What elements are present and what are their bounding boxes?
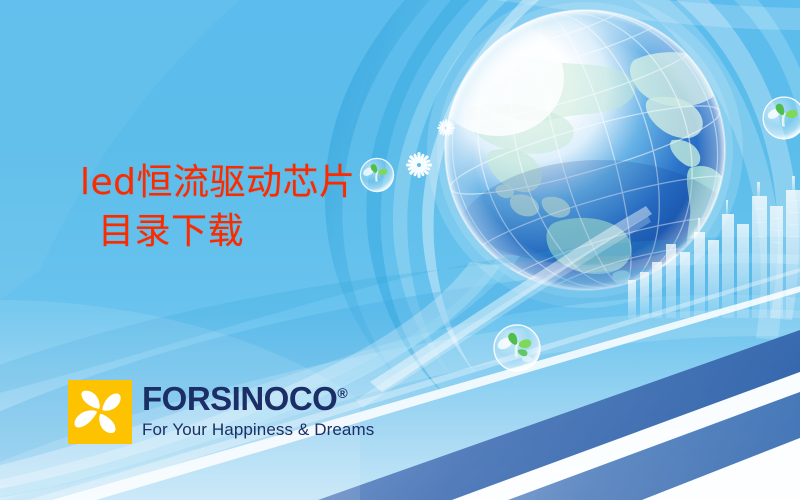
logo-wordmark: FORSINOCO® For Your Happiness & Dreams bbox=[142, 380, 374, 438]
registered-trademark-icon: ® bbox=[337, 385, 347, 401]
forsinoco-pinwheel-mark bbox=[68, 380, 132, 444]
poster-canvas: led恒流驱动芯片 目录下载 bbox=[0, 0, 800, 500]
headline-line-2: 目录下载 bbox=[98, 212, 356, 252]
logo-company-text: FORSINOCO bbox=[142, 380, 337, 417]
promo-headline: led恒流驱动芯片 目录下载 bbox=[80, 163, 356, 253]
headline-line-1: led恒流驱动芯片 bbox=[80, 163, 356, 203]
logo-company-name: FORSINOCO® bbox=[142, 382, 374, 415]
forsinoco-logo[interactable]: FORSINOCO® For Your Happiness & Dreams bbox=[68, 380, 374, 444]
logo-tagline: For Your Happiness & Dreams bbox=[142, 421, 374, 438]
